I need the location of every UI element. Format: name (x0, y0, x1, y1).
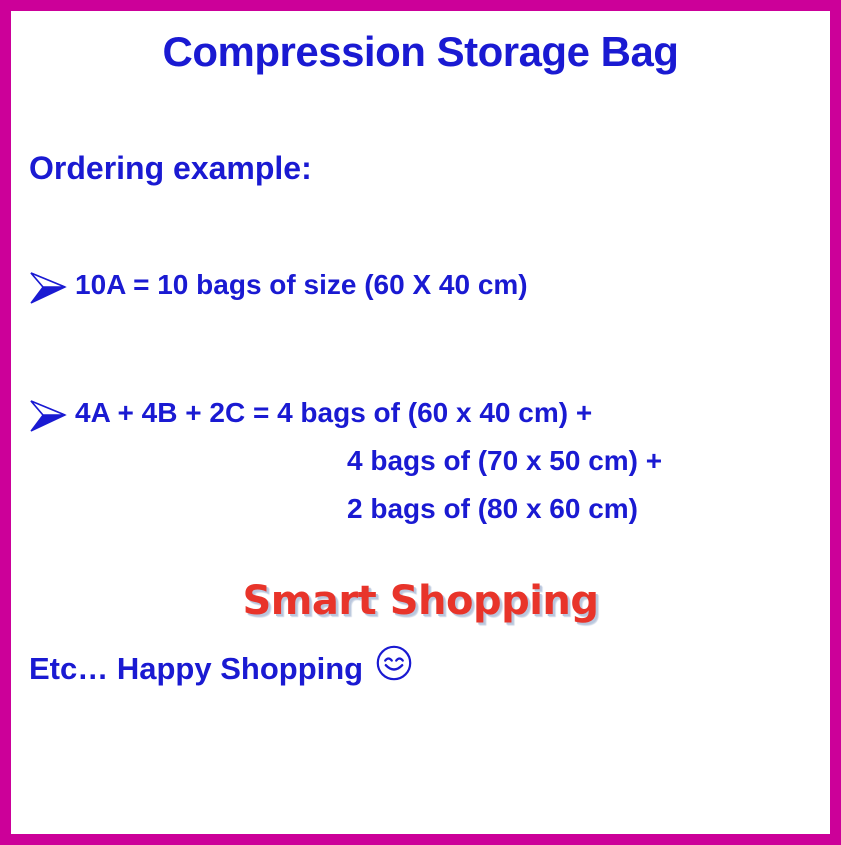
list-item-continuation-line: 4 bags of (70 x 50 cm) + (347, 441, 662, 481)
arrowhead-bullet-icon (29, 393, 75, 433)
closing-line: Etc… Happy Shopping (29, 644, 413, 693)
page-title: Compression Storage Bag (11, 27, 830, 77)
section-heading: Ordering example: (29, 148, 312, 188)
wordart-smart-shopping: Smart Shopping (11, 577, 830, 625)
arrowhead-bullet-icon (29, 265, 75, 305)
list-item: 10A = 10 bags of size (60 X 40 cm) (29, 265, 528, 305)
smiley-face-icon (375, 644, 413, 693)
closing-line-label: Etc… Happy Shopping (29, 648, 363, 690)
list-item-continuation-line: 2 bags of (80 x 60 cm) (347, 489, 638, 529)
list-item-label: 10A = 10 bags of size (60 X 40 cm) (75, 265, 528, 305)
list-item: 4A + 4B + 2C = 4 bags of (60 x 40 cm) + (29, 393, 592, 433)
list-item-label: 4A + 4B + 2C = 4 bags of (60 x 40 cm) + (75, 393, 592, 433)
slide-frame: Compression Storage Bag Ordering example… (0, 0, 841, 845)
slide-canvas: Compression Storage Bag Ordering example… (11, 11, 830, 834)
